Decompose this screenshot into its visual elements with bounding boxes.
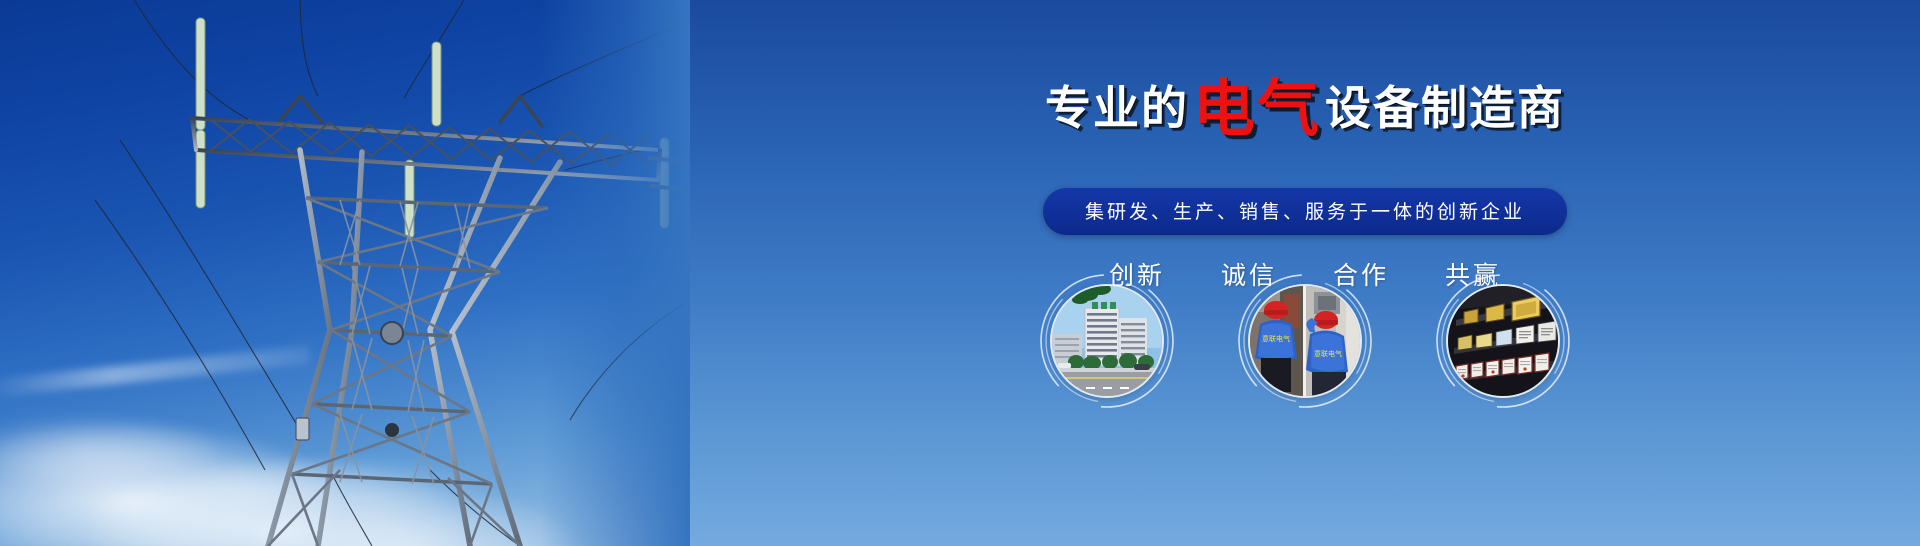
banner-content: 专业的电气设备制造商 集研发、生产、销售、服务于一体的创新企业 创新 诚信 合作…	[690, 0, 1920, 546]
headline-part-2: 设备制造商	[1325, 85, 1565, 131]
photo-circle-row: 意联电气 意联电气	[1048, 282, 1562, 400]
photo-gradient-fade	[540, 0, 690, 546]
headline-accent: 电气	[1193, 78, 1321, 140]
transmission-tower-photo	[0, 0, 690, 546]
svg-text:意联电气: 意联电气	[1314, 349, 1342, 358]
photo-circle-office-building[interactable]	[1048, 282, 1166, 400]
headline-part-1: 专业的	[1045, 85, 1189, 131]
photo-circle-certificate-wall[interactable]	[1444, 282, 1562, 400]
subtitle-text: 集研发、生产、销售、服务于一体的创新企业	[1085, 201, 1525, 223]
svg-text:意联电气: 意联电气	[1262, 334, 1290, 343]
hero-banner: 专业的电气设备制造商 集研发、生产、销售、服务于一体的创新企业 创新 诚信 合作…	[0, 0, 1920, 546]
headline: 专业的电气设备制造商	[690, 72, 1920, 134]
technicians-photo: 意联电气 意联电气	[1250, 286, 1360, 396]
subtitle-pill: 集研发、生产、销售、服务于一体的创新企业	[1043, 188, 1567, 235]
photo-circle-technicians[interactable]: 意联电气 意联电气	[1246, 282, 1364, 400]
certificate-wall-photo	[1448, 286, 1558, 396]
office-building-photo	[1052, 286, 1162, 396]
